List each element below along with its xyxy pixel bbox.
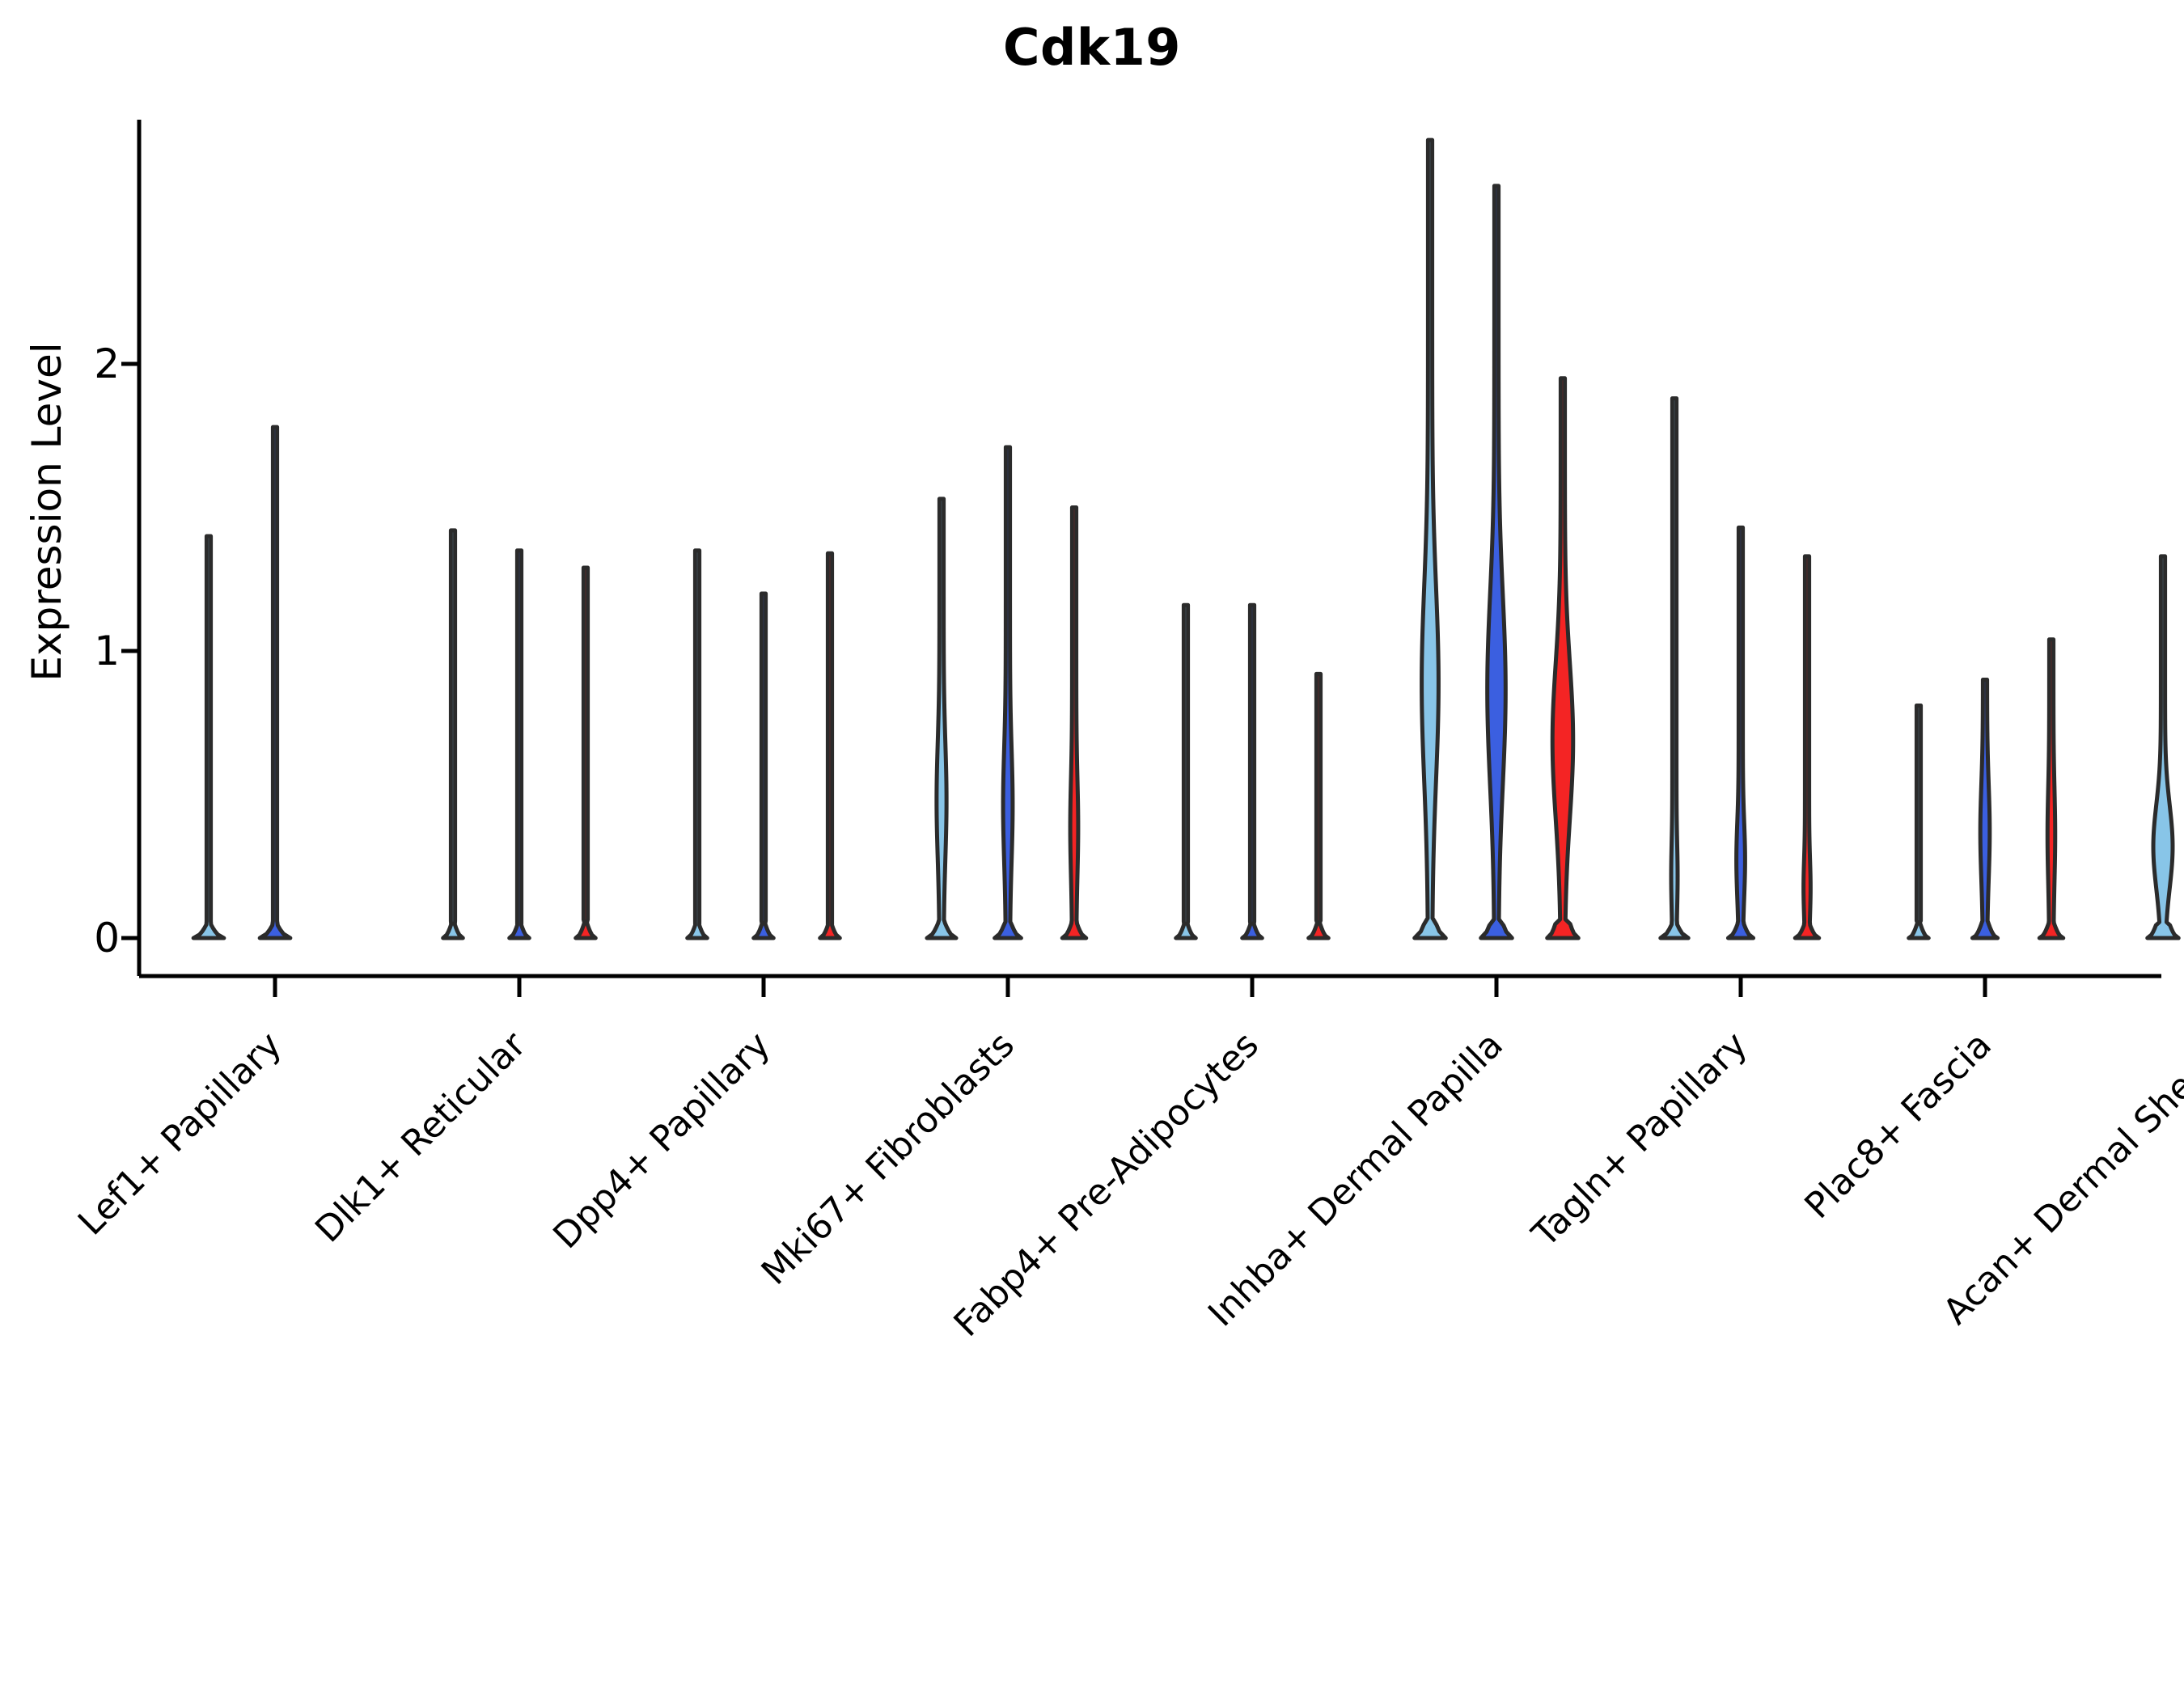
x-tick-label-group: Lef1+ PapillaryDlk1+ ReticularDpp4+ Papi… [0, 0, 2184, 1456]
violin-plot-figure: Cdk19 Expression Level 012 Lef1+ Papilla… [0, 0, 2184, 1456]
